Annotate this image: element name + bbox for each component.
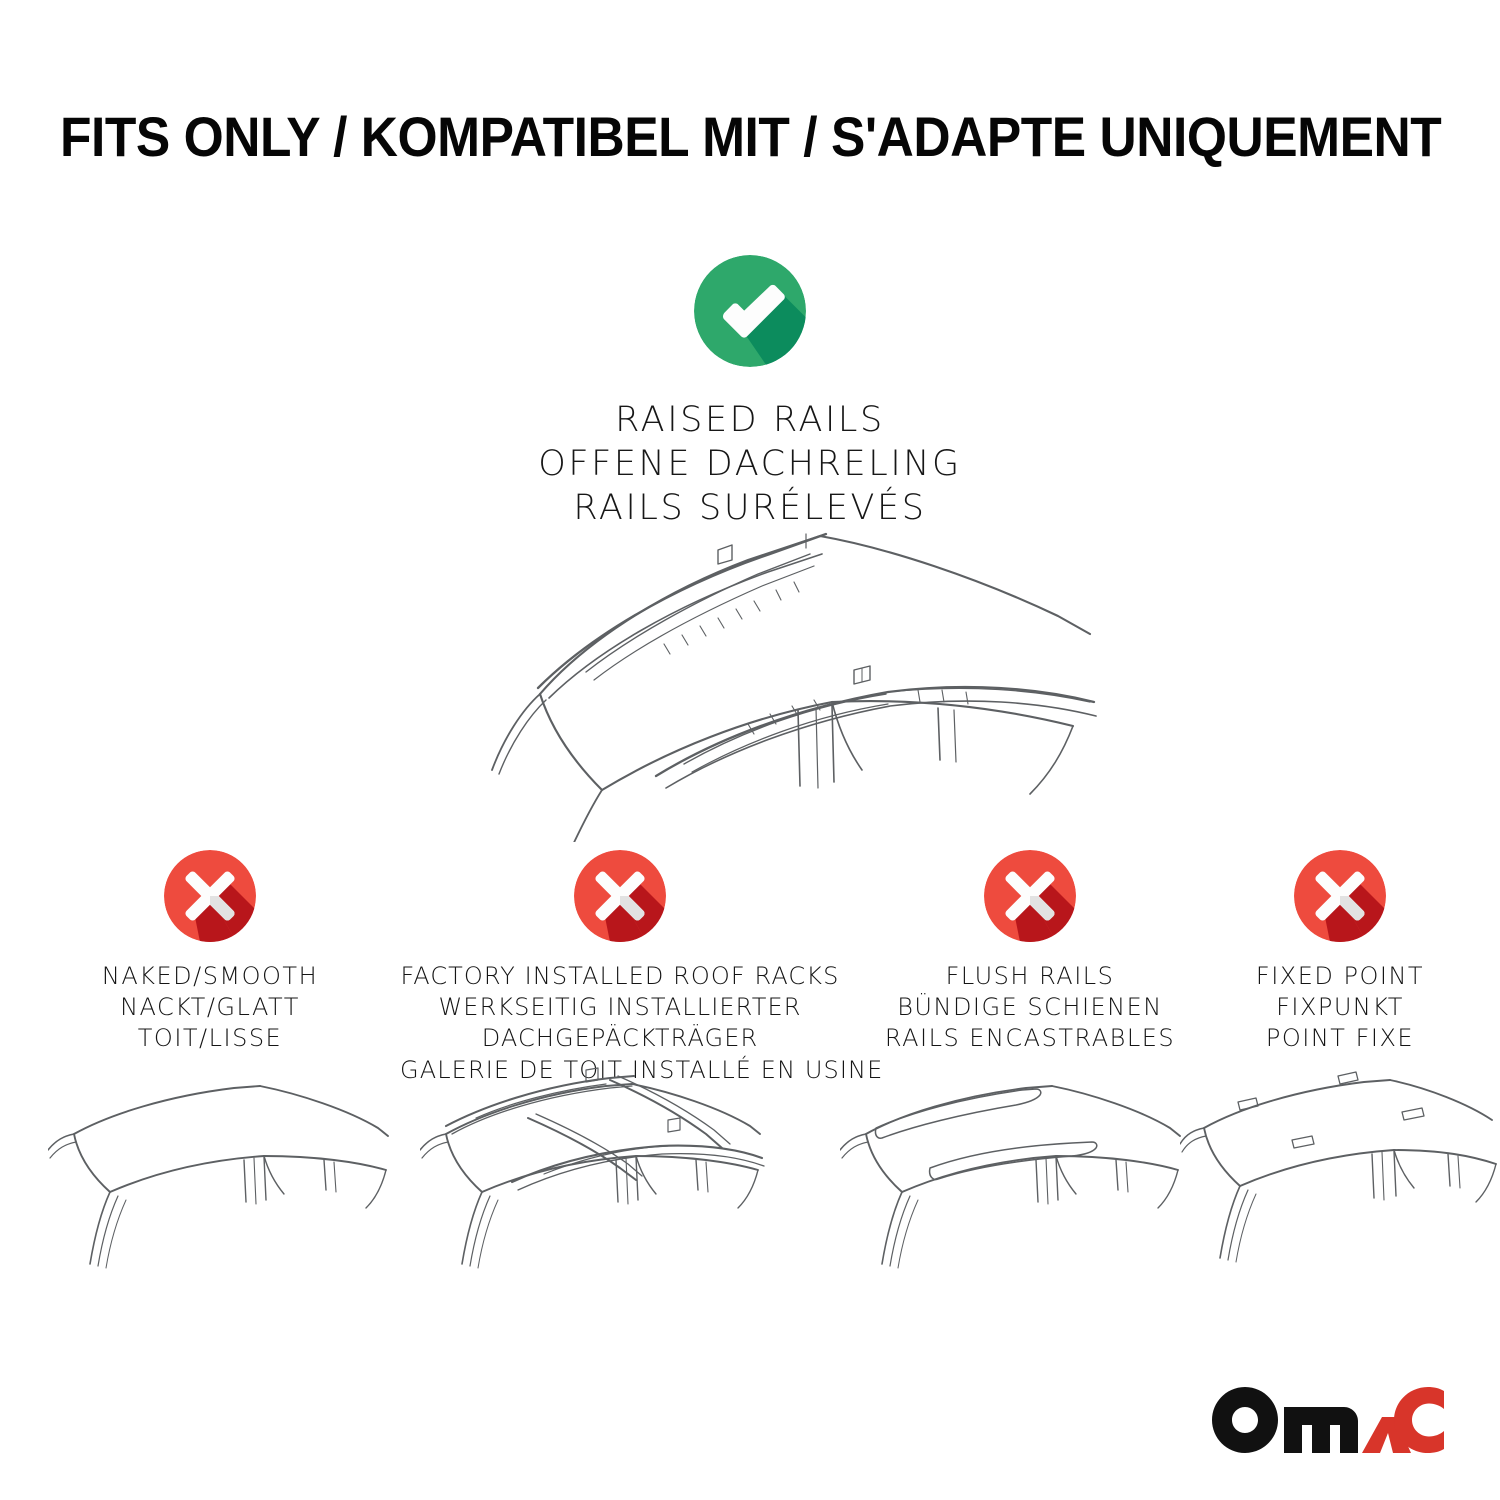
compatible-label-de: OFFENE DACHRELING [375,442,1125,486]
incompatible-item-flush-rails: FLUSH RAILS BÜNDIGE SCHIENEN RAILS ENCAS… [850,850,1210,1055]
incompatible-caption-fixed-point: FIXED POINT FIXPUNKT POINT FIXE [1190,961,1490,1055]
incompatible-item-factory-racks: FACTORY INSTALLED ROOF RACKS WERKSEITIG … [400,850,840,1086]
car-roof-fixed-point-illustration [1180,1062,1500,1294]
compatible-labels: RAISED RAILS OFFENE DACHRELING RAILS SUR… [375,398,1125,530]
car-roof-raised-rails-illustration [418,512,1108,842]
caption-line: POINT FIXE [1190,1023,1490,1054]
caption-line: FIXPUNKT [1190,992,1490,1023]
x-circle-icon [574,929,666,946]
check-circle-icon [694,255,806,372]
caption-line: RAILS ENCASTRABLES [850,1023,1210,1054]
compatible-label-en: RAISED RAILS [375,398,1125,442]
x-circle-icon [164,929,256,946]
car-roof-flush-rails-illustration [840,1062,1192,1294]
x-circle-icon [1294,929,1386,946]
compatible-section: RAISED RAILS OFFENE DACHRELING RAILS SUR… [375,255,1125,530]
car-roof-naked-smooth-illustration [48,1062,400,1294]
caption-line: FACTORY INSTALLED ROOF RACKS [400,961,840,992]
incompatible-item-fixed-point: FIXED POINT FIXPUNKT POINT FIXE [1190,850,1490,1055]
caption-line: FLUSH RAILS [850,961,1210,992]
car-roof-factory-racks-illustration [420,1062,772,1294]
caption-line: WERKSEITIG INSTALLIERTER [400,992,840,1023]
fitment-infographic: FITS ONLY / KOMPATIBEL MIT / S'ADAPTE UN… [0,0,1500,1500]
caption-line: NACKT/GLATT [20,992,400,1023]
caption-line: FIXED POINT [1190,961,1490,992]
incompatible-item-naked-smooth: NAKED/SMOOTH NACKT/GLATT TOIT/LISSE [20,850,400,1055]
caption-line: DACHGEPÄCKTRÄGER [400,1023,840,1054]
caption-line: NAKED/SMOOTH [20,961,400,992]
incompatible-caption-naked-smooth: NAKED/SMOOTH NACKT/GLATT TOIT/LISSE [20,961,400,1055]
page-title: FITS ONLY / KOMPATIBEL MIT / S'ADAPTE UN… [60,104,1440,169]
brand-logo [1212,1387,1444,1458]
omac-logo-icon [1212,1387,1444,1458]
caption-line: TOIT/LISSE [20,1023,400,1054]
incompatible-caption-flush-rails: FLUSH RAILS BÜNDIGE SCHIENEN RAILS ENCAS… [850,961,1210,1055]
check-badge-wrap [375,255,1125,372]
x-circle-icon [984,929,1076,946]
caption-line: BÜNDIGE SCHIENEN [850,992,1210,1023]
